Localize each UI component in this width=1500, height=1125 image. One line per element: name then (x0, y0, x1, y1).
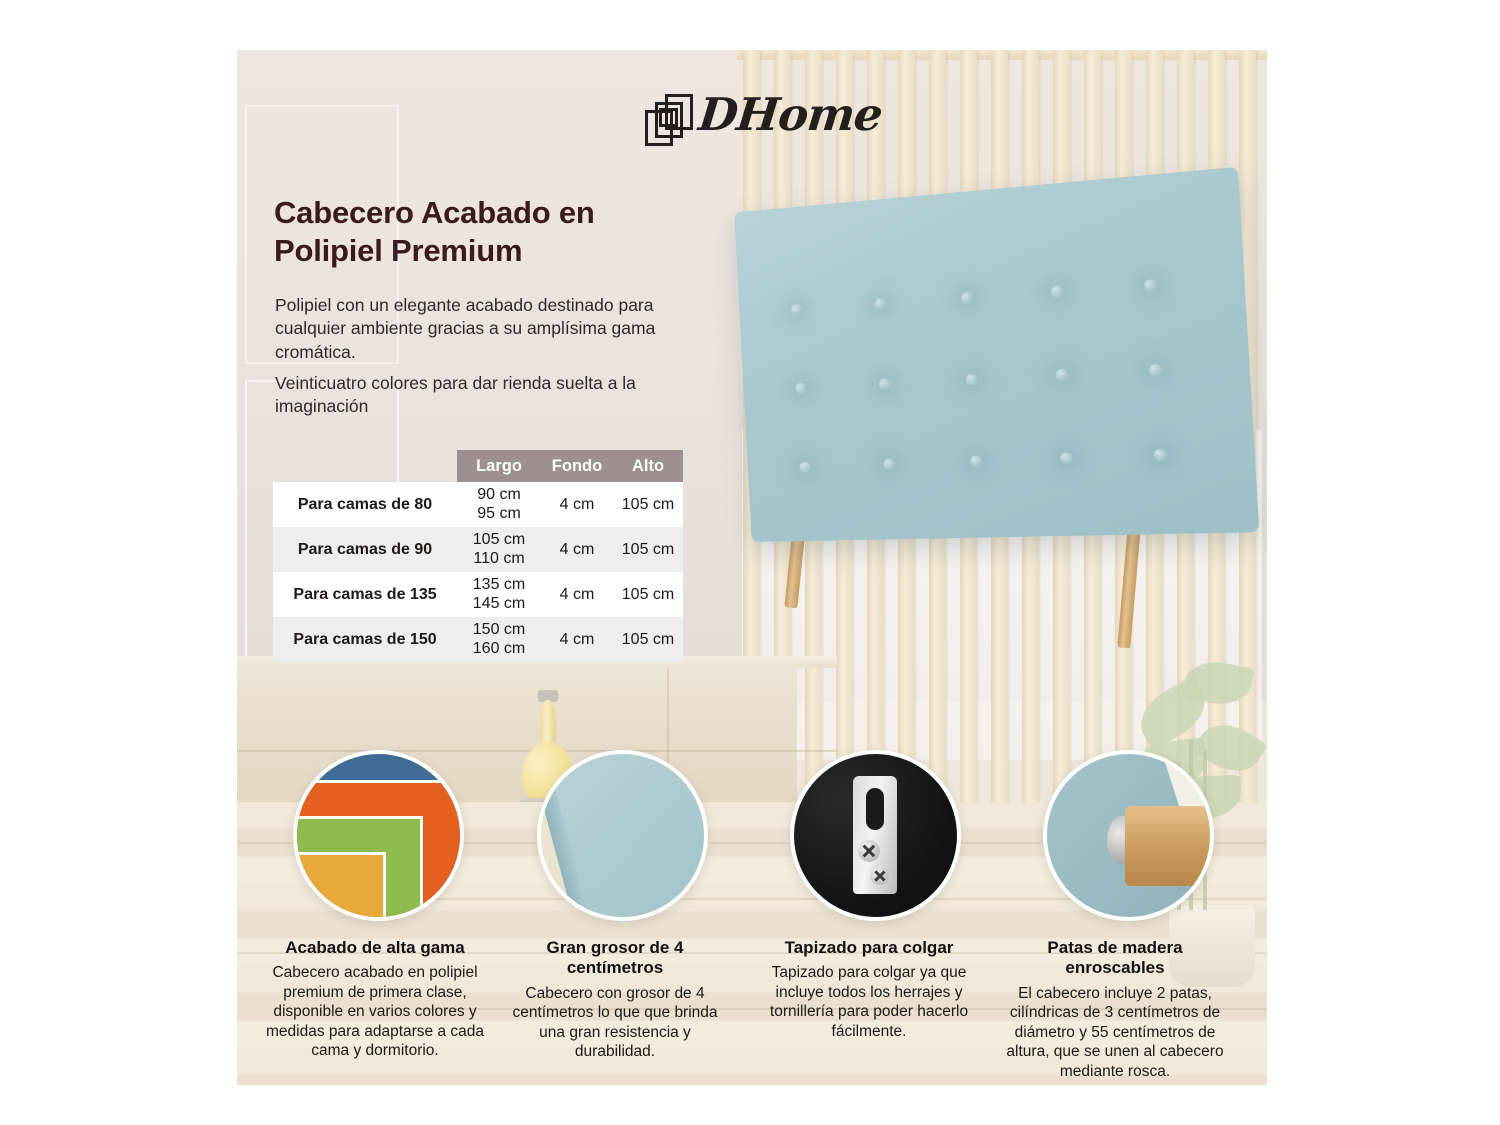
page-title: Cabecero Acabado en Polipiel Premium (274, 194, 674, 270)
column-header-alto: Alto (613, 450, 683, 482)
table-row: Para camas de 8090 cm95 cm4 cm105 cm (273, 482, 683, 527)
fabric-swatches-icon (293, 750, 464, 921)
headboard-tuft-button (970, 455, 983, 467)
headboard-tuft-button (1149, 364, 1162, 377)
cell-alto: 105 cm (613, 541, 683, 559)
cell-bed-size: Para camas de 150 (273, 631, 457, 649)
headboard-tuft-button (1154, 449, 1168, 461)
cell-bed-size: Para camas de 80 (273, 496, 457, 514)
headboard-product-photo (731, 188, 1231, 608)
headboard-tuft-button (961, 292, 973, 304)
infographic-canvas: DHome Cabecero Acabado en Polipiel Premi… (0, 0, 1500, 1125)
headboard-tuft-button (799, 462, 811, 474)
cell-bed-size: Para camas de 135 (273, 586, 457, 604)
feature-title-3: Tapizado para colgar (753, 938, 985, 958)
intro-paragraph-2: Veinticuatro colores para dar rienda sue… (275, 372, 690, 419)
feature-title-1: Acabado de alta gama (259, 938, 491, 958)
feature-caption-3: Tapizado para colgar Tapizado para colga… (753, 938, 985, 1041)
cell-bed-size: Para camas de 90 (273, 541, 457, 559)
cell-fondo: 4 cm (541, 496, 613, 514)
swatch-pinked-edge (420, 816, 423, 921)
thick-padding-icon (537, 750, 708, 921)
headboard-tuft-button (1060, 452, 1073, 464)
column-header-fondo: Fondo (541, 450, 613, 482)
artboard: DHome Cabecero Acabado en Polipiel Premi… (237, 50, 1267, 1085)
brand-logo: DHome (645, 86, 855, 154)
screw-lower (870, 866, 889, 885)
screw-upper (858, 840, 880, 862)
cell-fondo: 4 cm (541, 541, 613, 559)
cell-fondo: 4 cm (541, 586, 613, 604)
wall-bracket-icon (790, 750, 961, 921)
headboard-tuft-button (795, 383, 807, 395)
table-row: Para camas de 150150 cm160 cm4 cm105 cm (273, 617, 683, 662)
feature-text-2: Cabecero con grosor de 4 centímetros lo … (499, 984, 731, 1062)
headboard-tuft-button (874, 298, 886, 310)
table-body: Para camas de 8090 cm95 cm4 cm105 cmPara… (273, 482, 683, 662)
cell-fondo: 4 cm (541, 631, 613, 649)
feature-caption-2: Gran grosor de 4 centímetros Cabecero co… (499, 938, 731, 1062)
feature-caption-1: Acabado de alta gama Cabecero acabado en… (259, 938, 491, 1061)
feature-text-4: El cabecero incluye 2 patas, cilíndricas… (999, 984, 1231, 1082)
headboard-tuft-button (879, 378, 891, 390)
swatch-pinked-edge (293, 780, 464, 783)
brand-name: DHome (696, 88, 884, 141)
cell-alto: 105 cm (613, 496, 683, 514)
headboard-tuft-button (791, 304, 803, 316)
table-row: Para camas de 90105 cm110 cm4 cm105 cm (273, 527, 683, 572)
headboard-tuft-button (1055, 369, 1068, 381)
headboard-tuft-button (1144, 279, 1157, 292)
table-row: Para camas de 135135 cm145 cm4 cm105 cm (273, 572, 683, 617)
screw-in-wooden-leg-icon (1043, 750, 1214, 921)
feature-caption-4: Patas de madera enroscables El cabecero … (999, 938, 1231, 1081)
headboard-tuft-button (1051, 285, 1064, 298)
intro-paragraph-1: Polipiel con un elegante acabado destina… (275, 294, 690, 364)
overlapping-squares-icon (645, 94, 697, 146)
size-table: Largo Fondo Alto Para camas de 8090 cm95… (273, 450, 683, 662)
swatch-pinked-edge (293, 852, 386, 855)
cell-largo: 150 cm160 cm (457, 621, 541, 658)
cell-alto: 105 cm (613, 586, 683, 604)
headboard-panel (734, 167, 1259, 542)
feature-text-1: Cabecero acabado en polipiel premium de … (259, 963, 491, 1061)
table-header-row: Largo Fondo Alto (457, 450, 683, 482)
cell-largo: 90 cm95 cm (457, 486, 541, 523)
cell-largo: 135 cm145 cm (457, 576, 541, 613)
headboard-tuft-button (965, 374, 978, 386)
swatch-pinked-edge (383, 852, 386, 921)
cell-largo: 105 cm110 cm (457, 531, 541, 568)
headboard-tuft-button (883, 459, 895, 471)
cell-alto: 105 cm (613, 631, 683, 649)
feature-title-2: Gran grosor de 4 centímetros (499, 938, 731, 979)
column-header-largo: Largo (457, 450, 541, 482)
feature-title-4: Patas de madera enroscables (999, 938, 1231, 979)
swatch-pinked-edge (293, 816, 423, 819)
feature-text-3: Tapizado para colgar ya que incluye todo… (753, 963, 985, 1041)
